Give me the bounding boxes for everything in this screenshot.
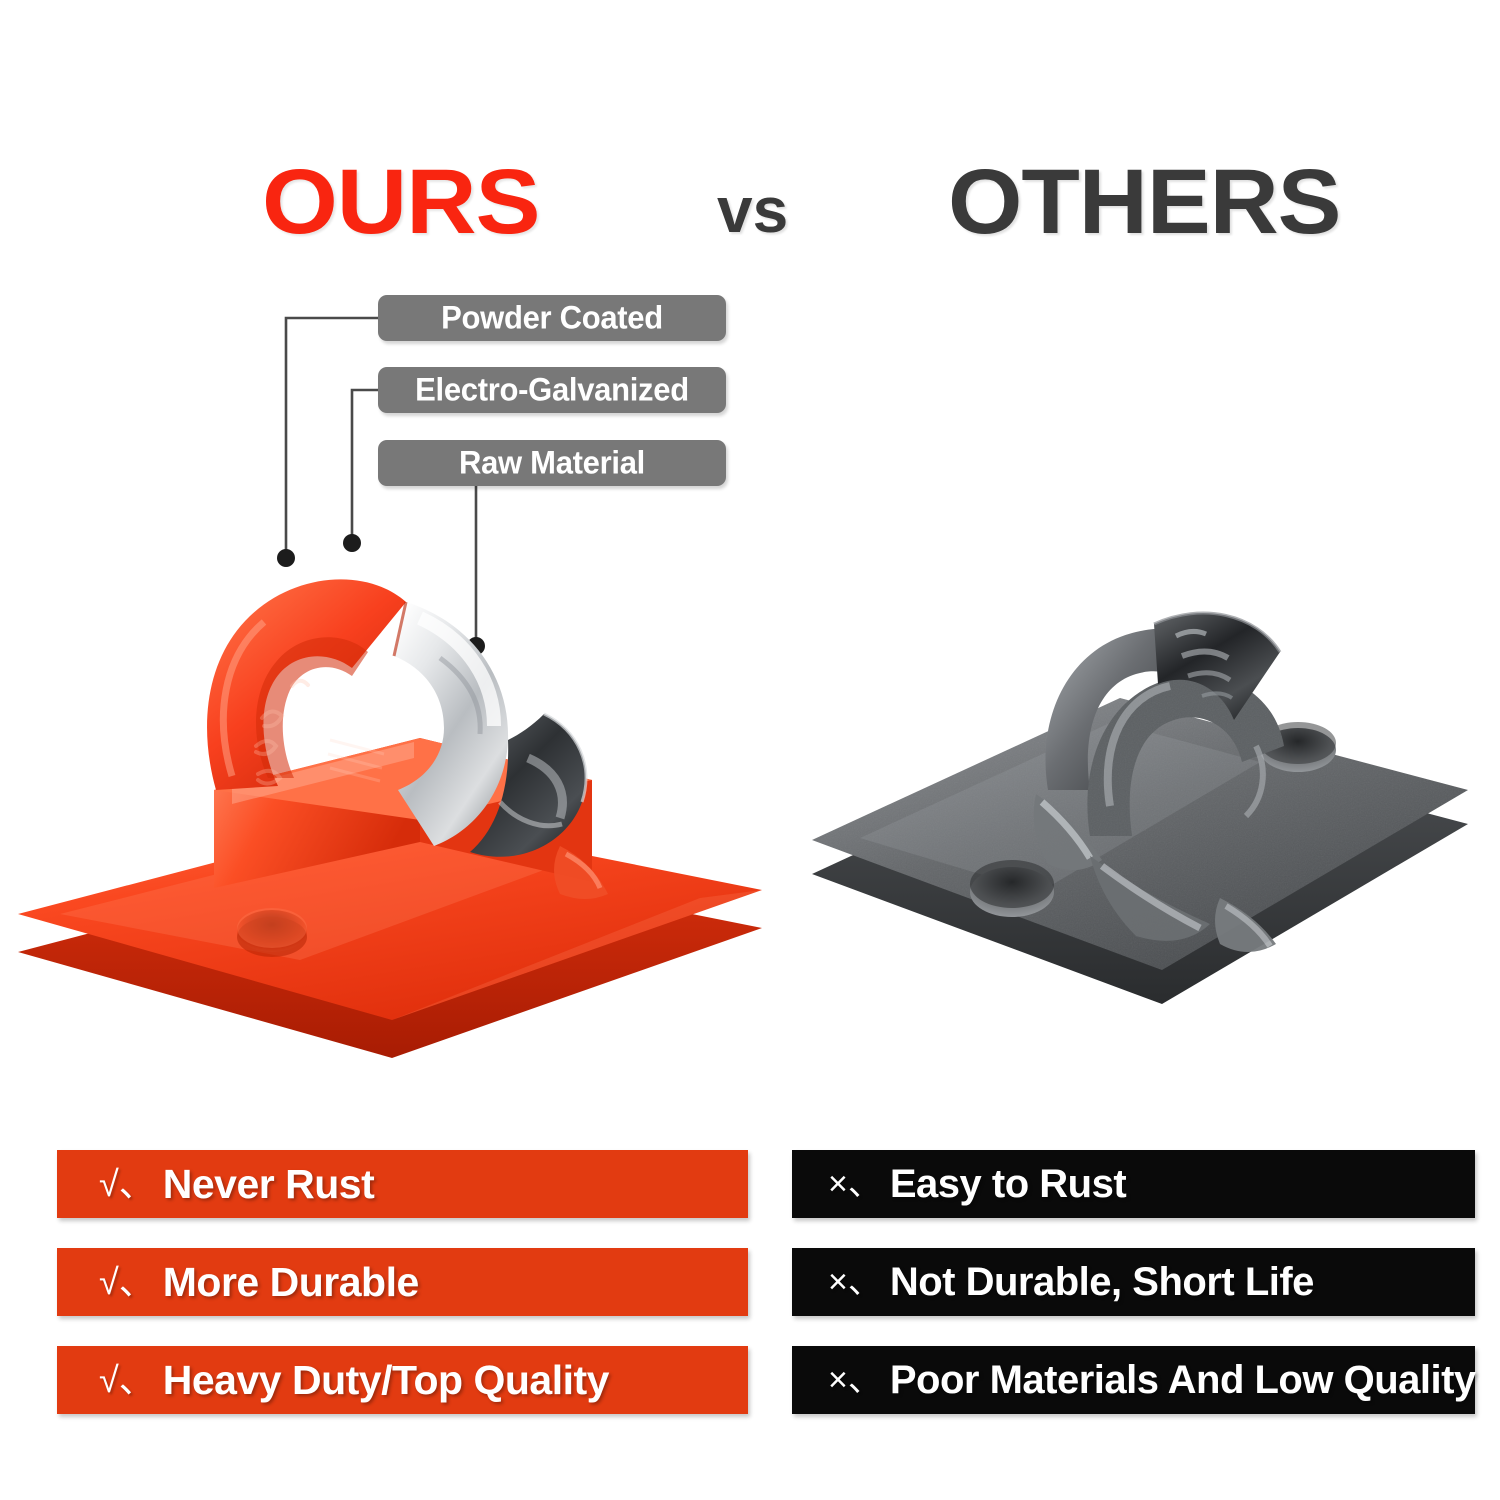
ours-feature-bar: √、 More Durable: [57, 1248, 748, 1316]
check-icon: √、: [99, 1166, 155, 1202]
check-icon: √、: [99, 1264, 155, 1300]
others-feature-bar: ×、 Not Durable, Short Life: [792, 1248, 1475, 1316]
cross-icon: ×、: [828, 1363, 882, 1397]
ours-feature-label: Never Rust: [163, 1164, 374, 1205]
cross-icon: ×、: [828, 1265, 882, 1299]
others-feature-bar: ×、 Poor Materials And Low Quality: [792, 1346, 1475, 1414]
ours-feature-label: More Durable: [163, 1262, 419, 1303]
ours-feature-bar: √、 Heavy Duty/Top Quality: [57, 1346, 748, 1414]
check-icon: √、: [99, 1362, 155, 1398]
others-feature-label: Poor Materials And Low Quality: [890, 1360, 1476, 1400]
others-feature-bar: ×、 Easy to Rust: [792, 1150, 1475, 1218]
ours-feature-label: Heavy Duty/Top Quality: [163, 1360, 609, 1401]
others-feature-label: Not Durable, Short Life: [890, 1262, 1314, 1302]
others-feature-label: Easy to Rust: [890, 1164, 1126, 1204]
cross-icon: ×、: [828, 1167, 882, 1201]
comparison-bars: √、 Never Rust √、 More Durable √、 Heavy D…: [0, 0, 1500, 1500]
infographic-canvas: OURS vs OTHERS Powder Coated Electro-Gal…: [0, 0, 1500, 1500]
ours-feature-bar: √、 Never Rust: [57, 1150, 748, 1218]
